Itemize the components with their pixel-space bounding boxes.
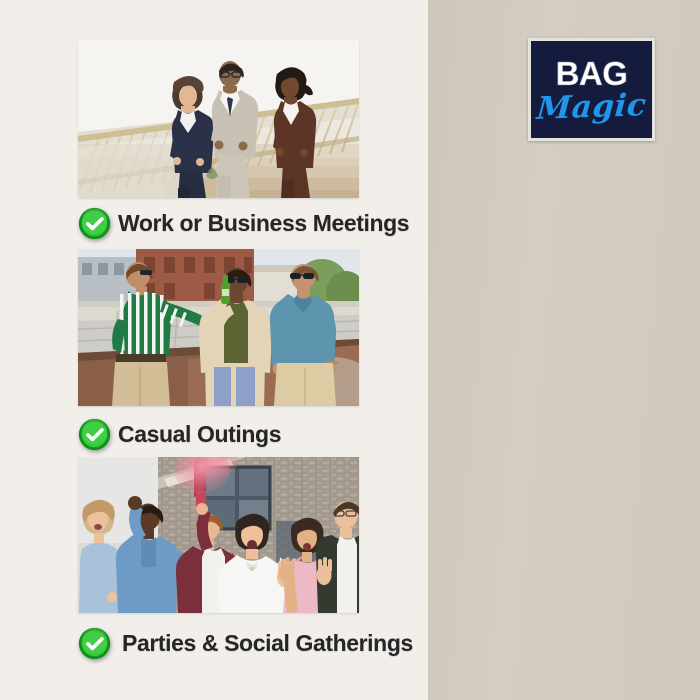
photo-parties-social-gatherings — [78, 457, 359, 613]
logo-wordmark-script: Magic — [536, 90, 648, 125]
photo-work-business-meetings — [78, 40, 359, 198]
caption-casual-outings: Casual Outings — [78, 416, 281, 452]
photo-1-illustration — [78, 40, 359, 198]
green-check-circle-icon — [78, 418, 111, 451]
photo-casual-outings — [78, 249, 359, 406]
logo-wordmark-primary: BAG — [556, 57, 628, 90]
caption-label: Work or Business Meetings — [118, 210, 409, 237]
photo-2-illustration — [78, 249, 359, 406]
caption-label: Casual Outings — [118, 421, 281, 448]
caption-work-business-meetings: Work or Business Meetings — [78, 205, 409, 241]
green-check-circle-icon — [78, 207, 111, 240]
caption-label: Parties & Social Gatherings — [122, 630, 413, 657]
green-check-circle-icon — [78, 627, 111, 660]
photo-3-illustration — [78, 457, 359, 613]
promo-graphic-canvas: BAG Magic — [0, 0, 700, 700]
caption-parties-social-gatherings: Parties & Social Gatherings — [78, 625, 413, 661]
bag-magic-logo: BAG Magic — [528, 38, 655, 141]
